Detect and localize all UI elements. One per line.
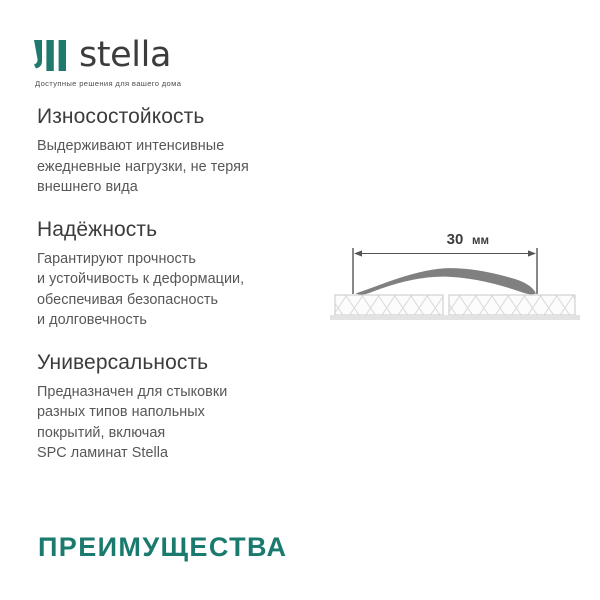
logo-row: stella — [34, 36, 294, 74]
feature-title: Универсальность — [37, 350, 337, 376]
profile-cross-section-diagram: 30 мм — [330, 224, 580, 320]
feature-body-line: Выдерживают интенсивные — [37, 136, 337, 157]
dimension-arrow-right-icon — [528, 250, 536, 256]
feature-body: Выдерживают интенсивные ежедневные нагру… — [37, 136, 337, 198]
feature-body-line: Гарантируют прочность — [37, 249, 337, 270]
feature-title: Надёжность — [37, 217, 337, 243]
feature-body-line: ежедневные нагрузки, не теряя — [37, 157, 337, 178]
banner-title: ПРЕИМУЩЕСТВА — [38, 531, 287, 563]
profile-curve-shape — [356, 268, 537, 295]
floor-panel-right — [449, 295, 575, 315]
feature-item: Универсальность Предназначен для стыковк… — [37, 350, 337, 464]
feature-item: Надёжность Гарантируют прочность и устой… — [37, 217, 337, 331]
feature-body-line: и долговечность — [37, 310, 337, 331]
feature-body-line: Предназначен для стыковки — [37, 382, 337, 403]
stella-logo-mark-icon — [34, 40, 70, 71]
feature-item: Износостойкость Выдерживают интенсивные … — [37, 104, 337, 198]
feature-list: Износостойкость Выдерживают интенсивные … — [37, 104, 337, 464]
feature-body-line: обеспечивая безопасность — [37, 290, 337, 311]
dimension-value-label: 30 — [447, 231, 464, 248]
feature-body-line: внешнего вида — [37, 177, 337, 198]
subfloor-strip — [330, 315, 580, 320]
feature-body-line: покрытий, включая — [37, 423, 337, 444]
dimension-arrow-left-icon — [354, 250, 362, 256]
dimension-unit-label: мм — [472, 235, 489, 247]
feature-body: Гарантируют прочность и устойчивость к д… — [37, 249, 337, 331]
feature-body-line: разных типов напольных — [37, 402, 337, 423]
feature-body-line: и устойчивость к деформации, — [37, 269, 337, 290]
feature-title: Износостойкость — [37, 104, 337, 130]
promo-slide: stella Доступные решения для вашего дома… — [0, 0, 600, 600]
brand-logo: stella Доступные решения для вашего дома — [34, 36, 294, 88]
logo-tagline: Доступные решения для вашего дома — [35, 79, 294, 88]
feature-body-line: SPC ламинат Stella — [37, 443, 337, 464]
floor-panel-left — [335, 295, 443, 315]
logo-wordmark: stella — [79, 38, 171, 72]
feature-body: Предназначен для стыковки разных типов н… — [37, 382, 337, 464]
